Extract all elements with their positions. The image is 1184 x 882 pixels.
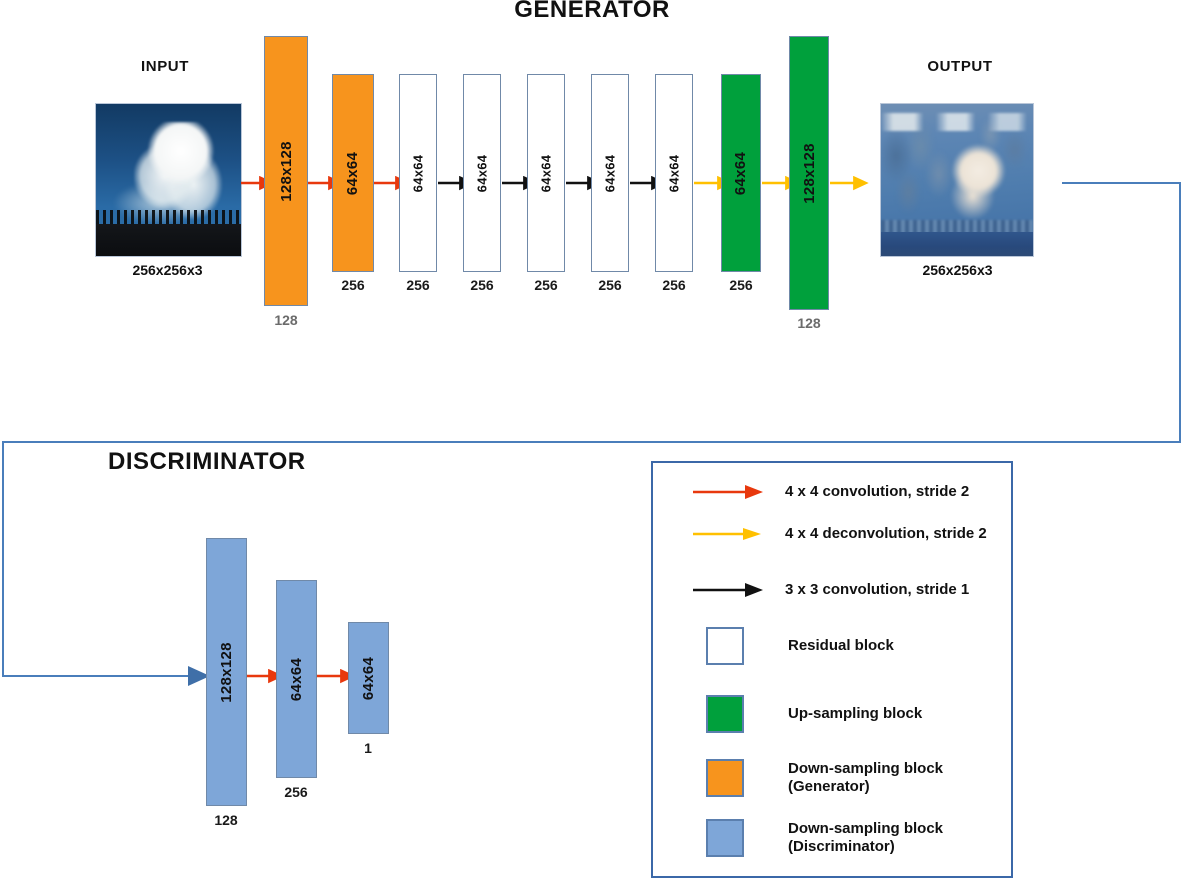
down-sampling-discriminator-swatch-icon xyxy=(706,819,744,857)
legend-item-conv-stride1: 3 x 3 convolution, stride 1 xyxy=(691,581,969,599)
up-sampling-block-swatch-icon xyxy=(706,695,744,733)
legend-label-downsampling-discriminator: Down-sampling block (Discriminator) xyxy=(788,820,943,857)
legend-panel: 4 x 4 convolution, stride 2 4 x 4 deconv… xyxy=(651,461,1013,878)
legend-item-downsampling-discriminator: Down-sampling block (Discriminator) xyxy=(706,819,943,857)
legend-item-upsampling-block: Up-sampling block xyxy=(706,695,922,733)
discriminator-block-3-size: 64x64 xyxy=(360,656,377,699)
red-arrow-icon xyxy=(691,483,765,501)
yellow-arrow-icon xyxy=(691,525,765,543)
legend-label-upsampling-block: Up-sampling block xyxy=(788,705,922,723)
legend-label-deconv-stride2: 4 x 4 deconvolution, stride 2 xyxy=(785,525,987,543)
discriminator-block-2-size: 64x64 xyxy=(288,657,305,700)
legend-label-residual-block: Residual block xyxy=(788,637,894,655)
legend-item-residual-block: Residual block xyxy=(706,627,894,665)
down-sampling-generator-swatch-icon xyxy=(706,759,744,797)
discriminator-block-3-channels: 1 xyxy=(341,740,395,756)
discriminator-block-3[interactable]: 64x64 xyxy=(348,622,389,734)
discriminator-block-1-size: 128x128 xyxy=(218,642,235,703)
black-arrow-icon xyxy=(691,581,765,599)
legend-item-downsampling-generator: Down-sampling block (Generator) xyxy=(706,759,943,797)
legend-item-deconv-stride2: 4 x 4 deconvolution, stride 2 xyxy=(691,525,987,543)
discriminator-block-1-channels: 128 xyxy=(199,812,253,828)
legend-label-conv-stride2: 4 x 4 convolution, stride 2 xyxy=(785,483,969,501)
discriminator-block-2-channels: 256 xyxy=(269,784,323,800)
residual-block-swatch-icon xyxy=(706,627,744,665)
discriminator-block-2[interactable]: 64x64 xyxy=(276,580,317,778)
legend-label-downsampling-generator: Down-sampling block (Generator) xyxy=(788,760,943,797)
legend-item-conv-stride2: 4 x 4 convolution, stride 2 xyxy=(691,483,969,501)
legend-label-conv-stride1: 3 x 3 convolution, stride 1 xyxy=(785,581,969,599)
diagram-canvas: GENERATOR DISCRIMINATOR INPUT 256x256x3 … xyxy=(0,0,1184,882)
discriminator-block-1[interactable]: 128x128 xyxy=(206,538,247,806)
